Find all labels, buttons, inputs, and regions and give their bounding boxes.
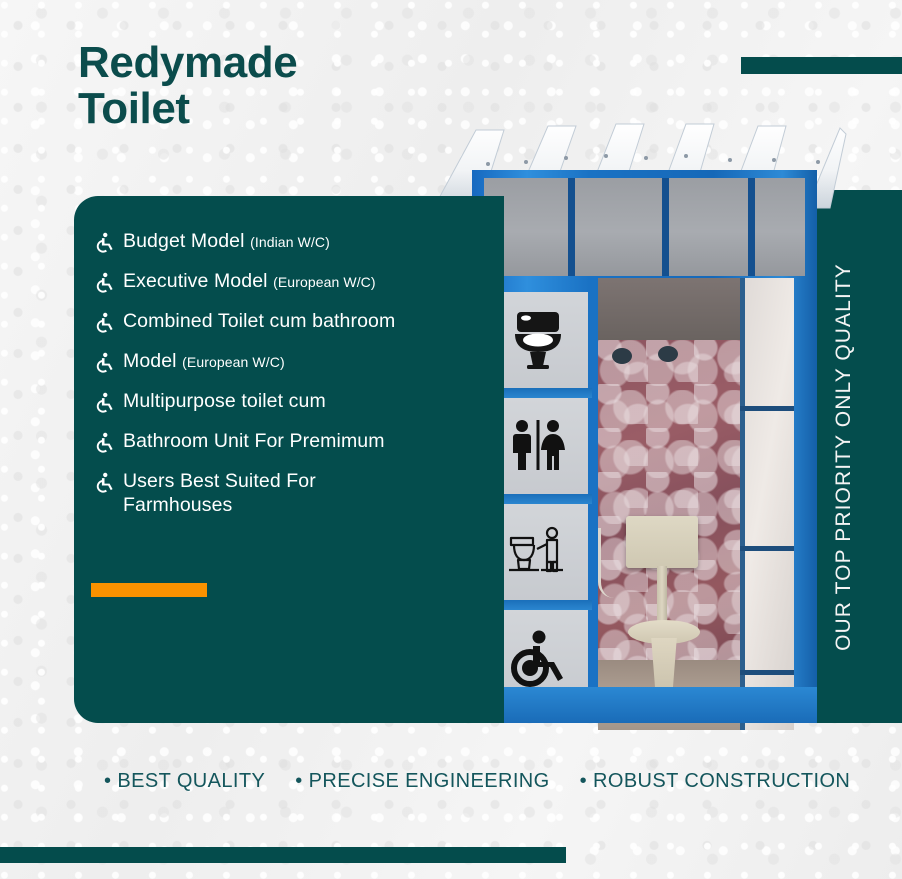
open-door-leaf [740, 278, 794, 730]
top-right-accent-bar [741, 57, 902, 74]
page-title-line-2: Toilet [78, 86, 478, 132]
footer-item-precise-engineering: •PRECISE ENGINEERING [295, 770, 549, 793]
toilet-cleaning-icon [505, 524, 571, 580]
doorway-interior [598, 278, 794, 730]
poster-canvas: Redymade Toilet OUR TOP PRIORITY ONLY QU… [0, 0, 902, 879]
feature-item: Budget Model (Indian W/C) [94, 230, 486, 254]
feature-label: Combined Toilet cum bathroom [123, 310, 395, 334]
footer-strip: •BEST QUALITY •PRECISE ENGINEERING •ROBU… [104, 770, 850, 793]
footer-label: BEST QUALITY [117, 770, 265, 792]
cabin-upper-divider-3 [748, 178, 755, 276]
cabin-base-plinth [472, 687, 817, 723]
feature-label: Budget Model (Indian W/C) [123, 230, 330, 254]
wheelchair-icon [94, 472, 114, 494]
feature-list: Budget Model (Indian W/C) Executive Mode… [94, 230, 486, 518]
cistern-flush-pipe [657, 566, 667, 626]
wheelchair-icon [94, 432, 114, 454]
door-rail-2 [740, 546, 794, 551]
wall-cable [598, 528, 627, 598]
feature-sublabel: (European W/C) [182, 354, 285, 370]
cabin-upper-divider-2 [662, 178, 669, 276]
wall-vent-left [612, 348, 632, 364]
feature-label: Users Best Suited For Farmhouses [123, 470, 373, 518]
door-rail-3 [740, 670, 794, 675]
footer-bullet-icon: • [104, 770, 111, 792]
toilet-icon [511, 308, 565, 372]
cabin-upper-divider-1 [568, 178, 575, 276]
feature-panel: Budget Model (Indian W/C) Executive Mode… [74, 196, 504, 723]
wall-vent-right [658, 346, 678, 362]
interior-tiled-wall [598, 340, 740, 660]
feature-item: Bathroom Unit For Premimum [94, 430, 486, 454]
door-hinge-edge [740, 278, 745, 730]
cabin-upper-panel [484, 178, 805, 276]
page-title: Redymade Toilet [78, 40, 478, 132]
interior-ceiling [598, 278, 740, 340]
door-rail-1 [740, 406, 794, 411]
footer-bullet-icon: • [295, 770, 302, 792]
feature-item: Multipurpose toilet cum [94, 390, 486, 414]
footer-label: PRECISE ENGINEERING [309, 770, 550, 792]
bottom-left-accent-bar [0, 847, 566, 863]
wheelchair-icon [94, 272, 114, 294]
footer-item-best-quality: •BEST QUALITY [104, 770, 265, 793]
wheelchair-icon [94, 392, 114, 414]
page-title-line-1: Redymade [78, 40, 478, 86]
feature-label: Multipurpose toilet cum [123, 390, 326, 414]
feature-sublabel: (Indian W/C) [250, 234, 330, 250]
feature-label: Bathroom Unit For Premimum [123, 430, 385, 454]
feature-item: Users Best Suited For Farmhouses [94, 470, 486, 518]
orange-accent-bar [91, 583, 207, 597]
wheelchair-icon [94, 352, 114, 374]
feature-label: Model (European W/C) [123, 350, 285, 374]
wheelchair-icon [94, 312, 114, 334]
feature-item: Model (European W/C) [94, 350, 486, 374]
feature-sublabel: (European W/C) [273, 274, 376, 290]
wheelchair-accessible-icon [509, 629, 567, 687]
feature-item: Executive Model (European W/C) [94, 270, 486, 294]
footer-item-robust-construction: •ROBUST CONSTRUCTION [580, 770, 851, 793]
toilet-cistern [626, 516, 698, 568]
footer-label: ROBUST CONSTRUCTION [593, 770, 850, 792]
wheelchair-icon [94, 232, 114, 254]
feature-item: Combined Toilet cum bathroom [94, 310, 486, 334]
restroom-men-women-icon [508, 418, 568, 474]
footer-bullet-icon: • [580, 770, 587, 792]
toilet-cabin [472, 170, 817, 723]
feature-label: Executive Model (European W/C) [123, 270, 376, 294]
